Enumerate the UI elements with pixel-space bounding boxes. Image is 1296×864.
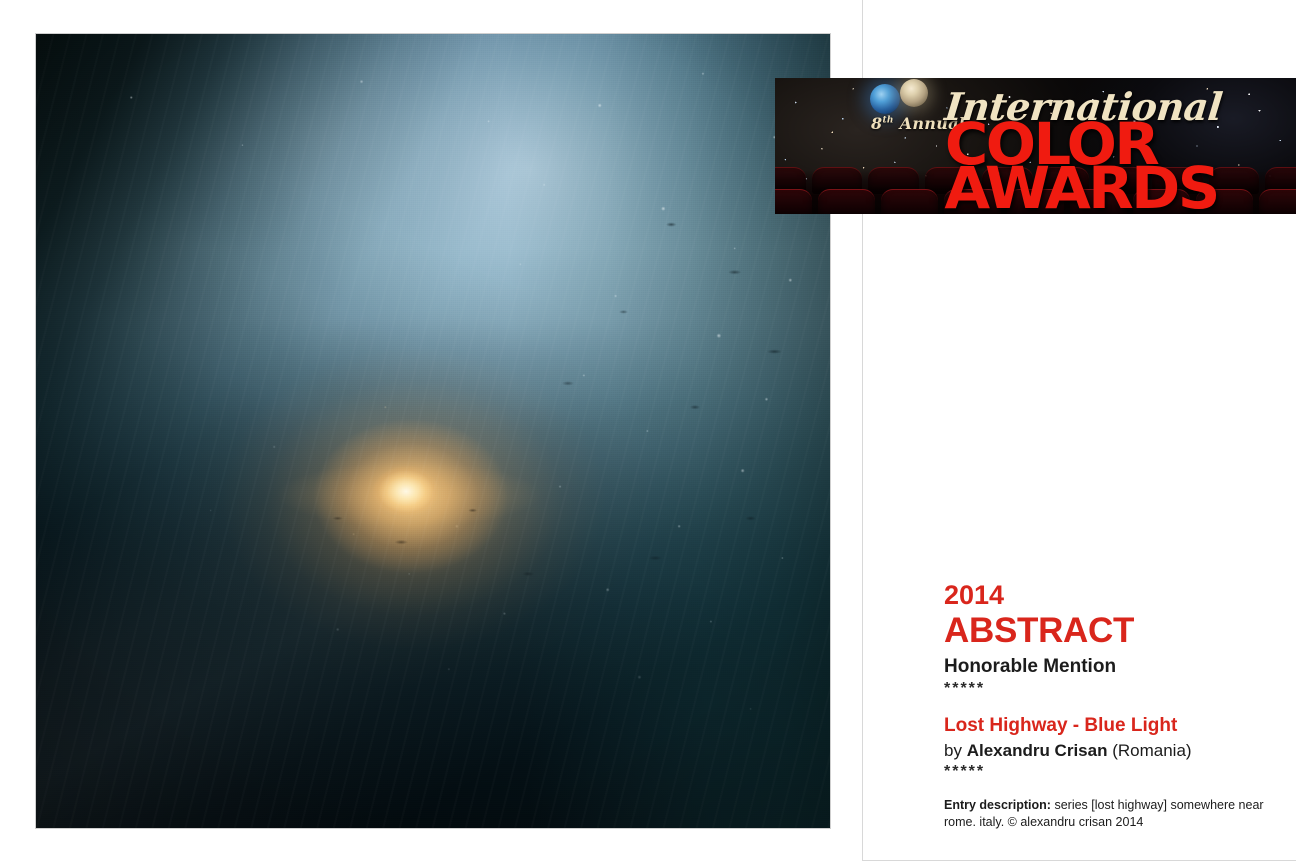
byline-by-label: by bbox=[944, 741, 962, 760]
entry-byline: by Alexandru Crisan (Romania) bbox=[944, 740, 1284, 762]
photo-vignette bbox=[36, 34, 830, 828]
artist-name: Alexandru Crisan bbox=[967, 741, 1108, 760]
award-separator-stars: ***** bbox=[944, 681, 1284, 697]
award-year: 2014 bbox=[944, 582, 1284, 609]
entry-details: 2014 ABSTRACT Honorable Mention ***** Lo… bbox=[944, 582, 1284, 831]
artist-country: (Romania) bbox=[1112, 741, 1191, 760]
banner-annual-ordinal: th bbox=[882, 116, 893, 126]
color-awards-banner: 8th Annual International COLOR AWARDS bbox=[775, 78, 1296, 214]
banner-annual-number: 8 bbox=[871, 114, 882, 133]
banner-wordmark: 8th Annual International COLOR AWARDS bbox=[775, 78, 1296, 214]
entry-description-label: Entry description: bbox=[944, 798, 1051, 812]
title-separator-stars: ***** bbox=[944, 764, 1284, 780]
award-photograph bbox=[36, 34, 830, 828]
entry-title: Lost Highway - Blue Light bbox=[944, 714, 1284, 738]
award-level: Honorable Mention bbox=[944, 655, 1284, 679]
banner-awards-text: AWARDS bbox=[944, 154, 1217, 214]
awards-entry-page: 8th Annual International COLOR AWARDS 20… bbox=[0, 0, 1296, 864]
entry-description: Entry description: series [lost highway]… bbox=[944, 797, 1276, 832]
award-category: ABSTRACT bbox=[944, 611, 1284, 650]
